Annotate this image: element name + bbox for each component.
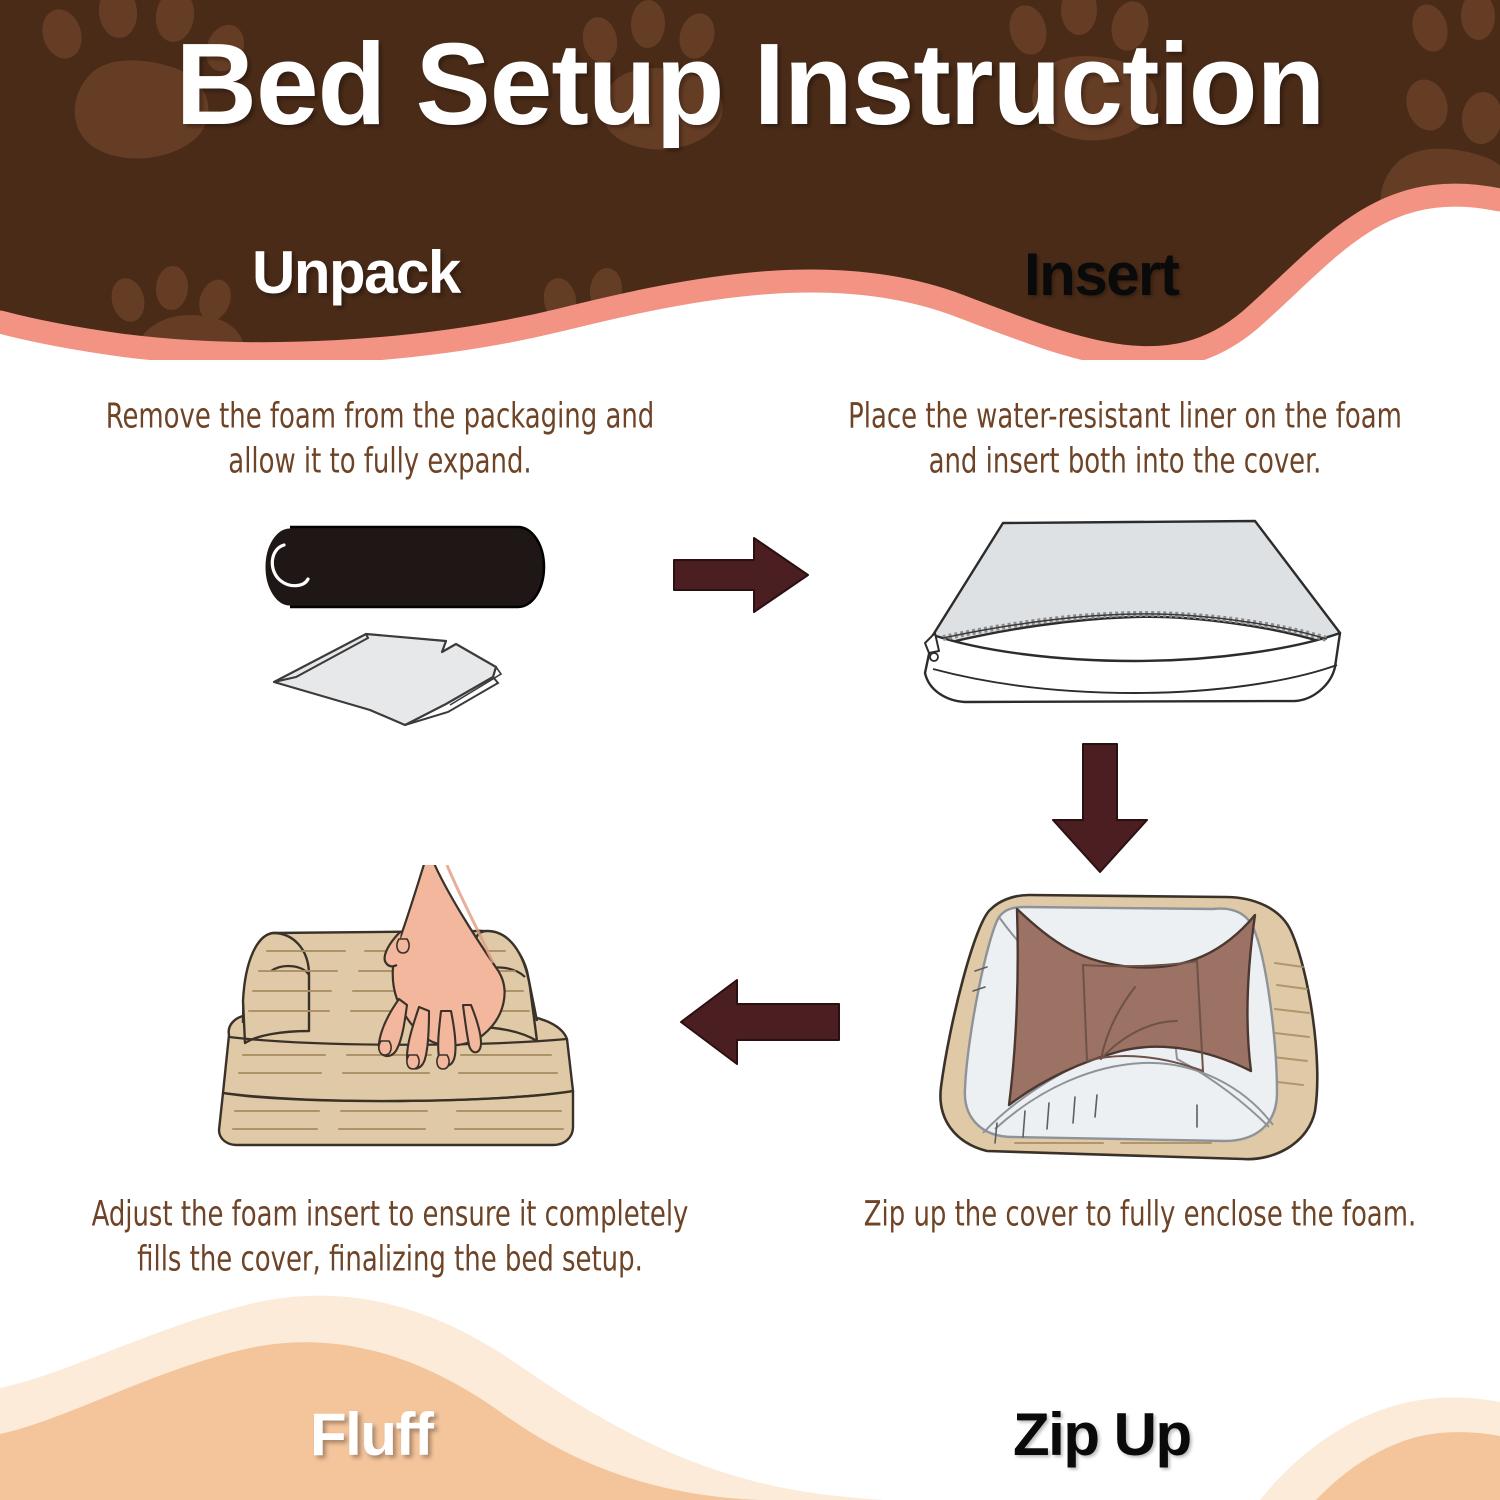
arrow-right-icon [672, 530, 812, 625]
footer-band [0, 1270, 1500, 1500]
step-label-insert: Insert [1024, 240, 1178, 309]
open-cover-with-foam-icon [940, 895, 1317, 1159]
caption-fluff: Adjust the foam insert to ensure it comp… [78, 1192, 701, 1282]
footer-wave-shape [0, 1270, 1500, 1500]
caption-unpack: Remove the foam from the packaging and a… [82, 394, 677, 484]
illustration-insert [895, 505, 1365, 740]
illustration-fluff [175, 865, 605, 1170]
step-label-unpack: Unpack [252, 238, 460, 307]
illustration-zipup [925, 875, 1345, 1180]
header-band: Bed Setup Instruction [0, 0, 1500, 360]
caption-zipup: Zip up the cover to fully enclose the fo… [852, 1192, 1429, 1237]
arrow-down-icon [1045, 742, 1155, 882]
arrow-left-icon [675, 972, 845, 1077]
bolster-bed-icon [219, 865, 573, 1145]
page-title: Bed Setup Instruction [23, 18, 1478, 151]
zippered-cushion-icon [925, 521, 1340, 702]
step-label-fluff: Fluff [310, 1400, 432, 1469]
rolled-foam-icon [264, 527, 544, 607]
infographic-page: Bed Setup Instruction Unpack Insert Remo… [0, 0, 1500, 1500]
folded-liner-icon [274, 634, 501, 725]
illustration-unpack [250, 505, 620, 740]
step-label-zipup: Zip Up [1013, 1400, 1191, 1469]
caption-insert: Place the water-resistant liner on the f… [823, 394, 1428, 484]
